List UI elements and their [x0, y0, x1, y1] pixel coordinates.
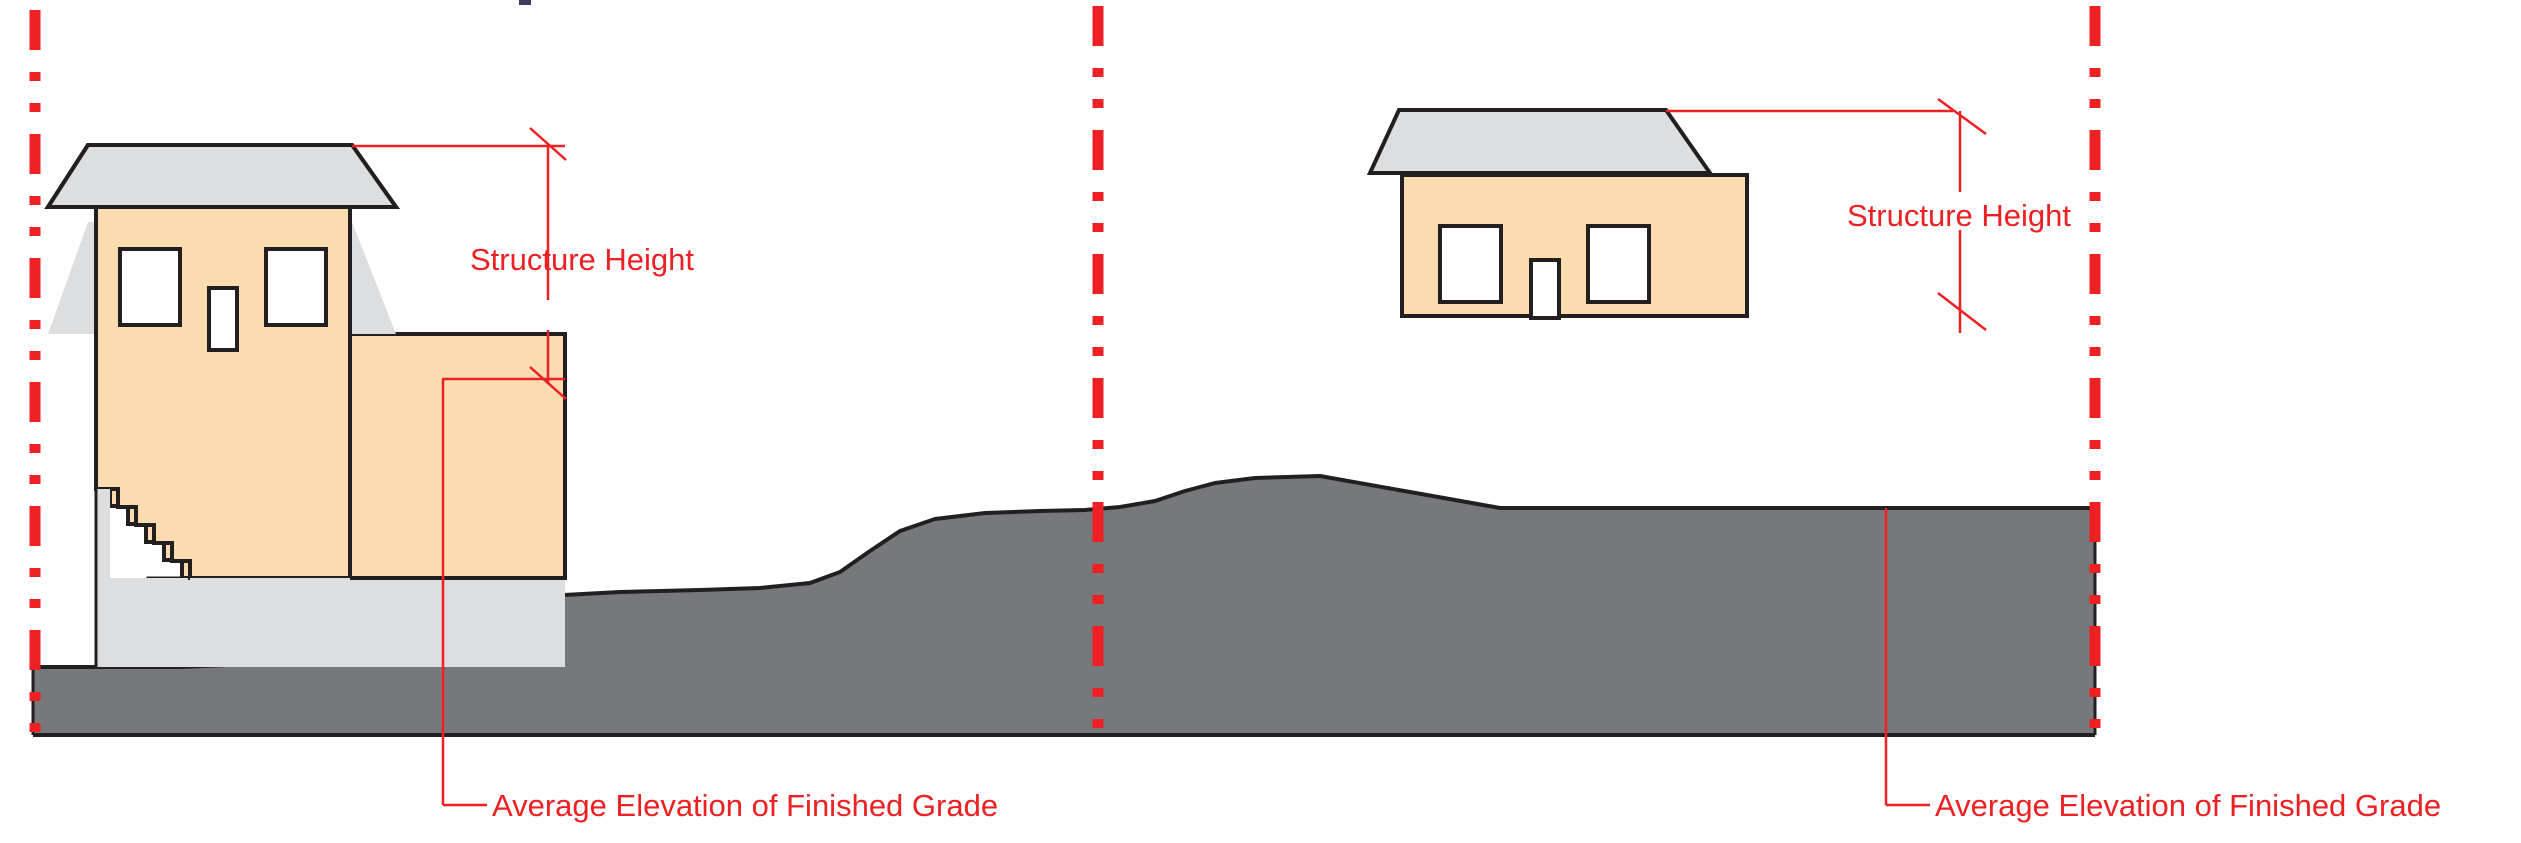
left-roof	[48, 145, 396, 207]
structure-height-label-right: Structure Height	[1847, 198, 2071, 233]
structure-height-label-left: Structure Height	[470, 242, 694, 277]
right-sh-tick-top	[1938, 99, 1986, 134]
right-house-window-1	[1440, 226, 1501, 302]
right-sh-tick-bottom	[1938, 293, 1986, 330]
left-wall-lower	[96, 489, 110, 667]
left-slab-right	[190, 578, 350, 667]
house-right	[1370, 110, 1747, 318]
avg-grade-label-right: Average Elevation of Finished Grade	[1935, 788, 2441, 823]
diagram-canvas: Structure Height Average Elevation of Fi…	[0, 0, 2521, 843]
top-edge-artifact	[519, 0, 531, 5]
avg-grade-label-left: Average Elevation of Finished Grade	[492, 788, 998, 823]
right-house-door	[1531, 260, 1559, 318]
section-drawing: Structure Height Average Elevation of Fi…	[0, 0, 2521, 843]
left-window-left	[120, 249, 180, 325]
right-house-window-2	[1588, 226, 1649, 302]
left-door	[209, 288, 237, 350]
right-roof-polygon	[1370, 110, 1710, 173]
left-window-right	[266, 249, 326, 325]
left-house-composite	[48, 145, 396, 667]
